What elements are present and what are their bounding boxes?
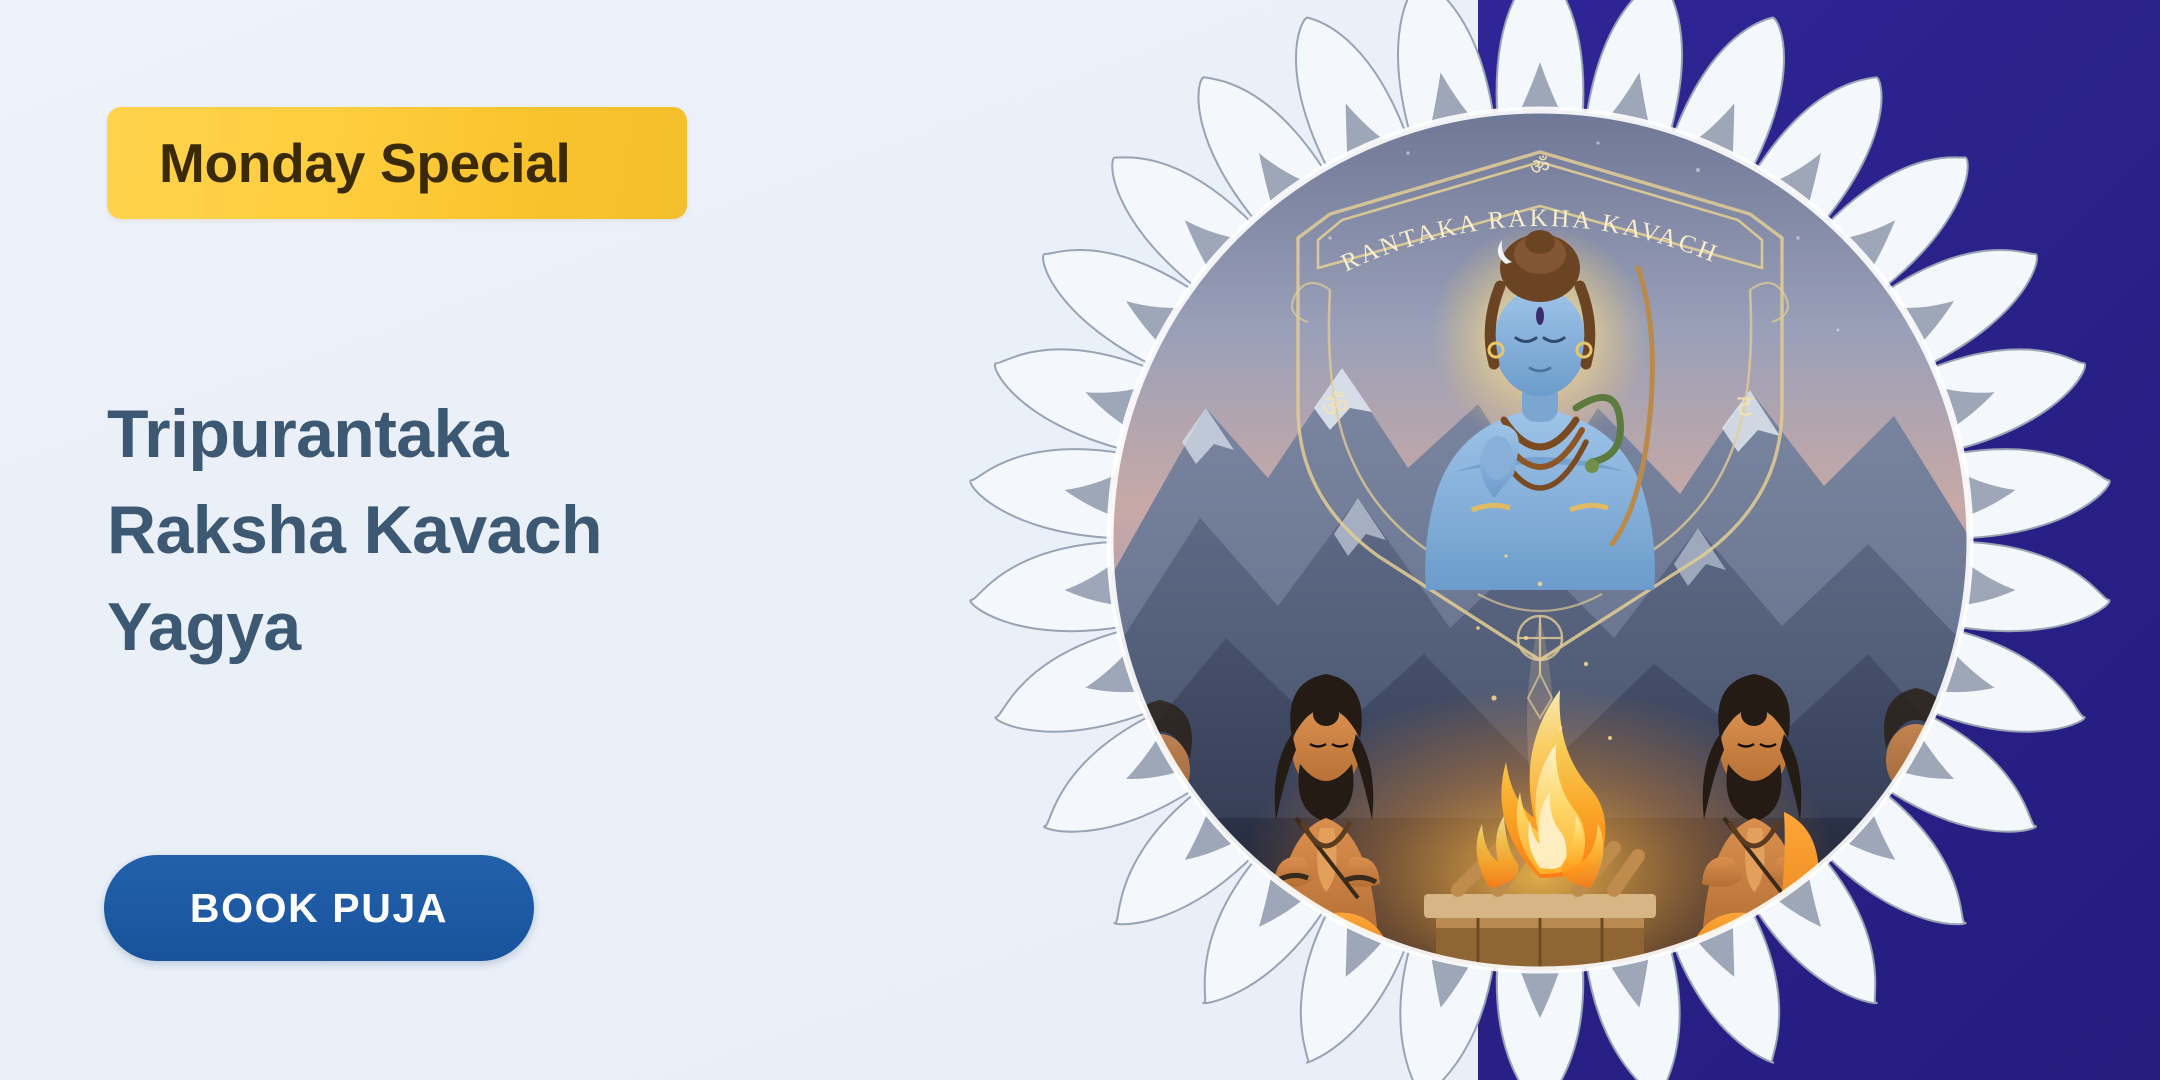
- svg-text:ॐ: ॐ: [1530, 155, 1550, 180]
- svg-text:ट: ट: [1737, 389, 1753, 424]
- mandala-artwork: TRIPURANTAKA RAKHA KAVACH YAGYA ॐ ट ॐ: [938, 0, 2142, 1080]
- promo-banner: TRIPURANTAKA RAKHA KAVACH YAGYA ॐ ट ॐ: [0, 0, 2160, 1080]
- shiva-figure: [1425, 226, 1655, 590]
- badge-label: Monday Special: [159, 131, 570, 195]
- om-glyph-left: ॐ: [1321, 389, 1348, 424]
- headline-line-2: Raksha Kavach: [107, 482, 807, 579]
- book-puja-button[interactable]: BOOK PUJA: [104, 855, 534, 961]
- monday-special-badge: Monday Special: [107, 107, 687, 219]
- page-title: Tripurantaka Raksha Kavach Yagya: [107, 386, 807, 676]
- trishul-glyph-right: ट: [1737, 389, 1753, 424]
- headline-line-1: Tripurantaka: [107, 386, 807, 483]
- headline-line-3: Yagya: [107, 579, 807, 676]
- book-puja-label: BOOK PUJA: [190, 885, 448, 932]
- svg-text:ॐ: ॐ: [1321, 389, 1348, 424]
- left-content-column: Monday Special Tripurantaka Raksha Kavac…: [0, 0, 1000, 1080]
- om-glyph-top: ॐ: [1530, 155, 1550, 180]
